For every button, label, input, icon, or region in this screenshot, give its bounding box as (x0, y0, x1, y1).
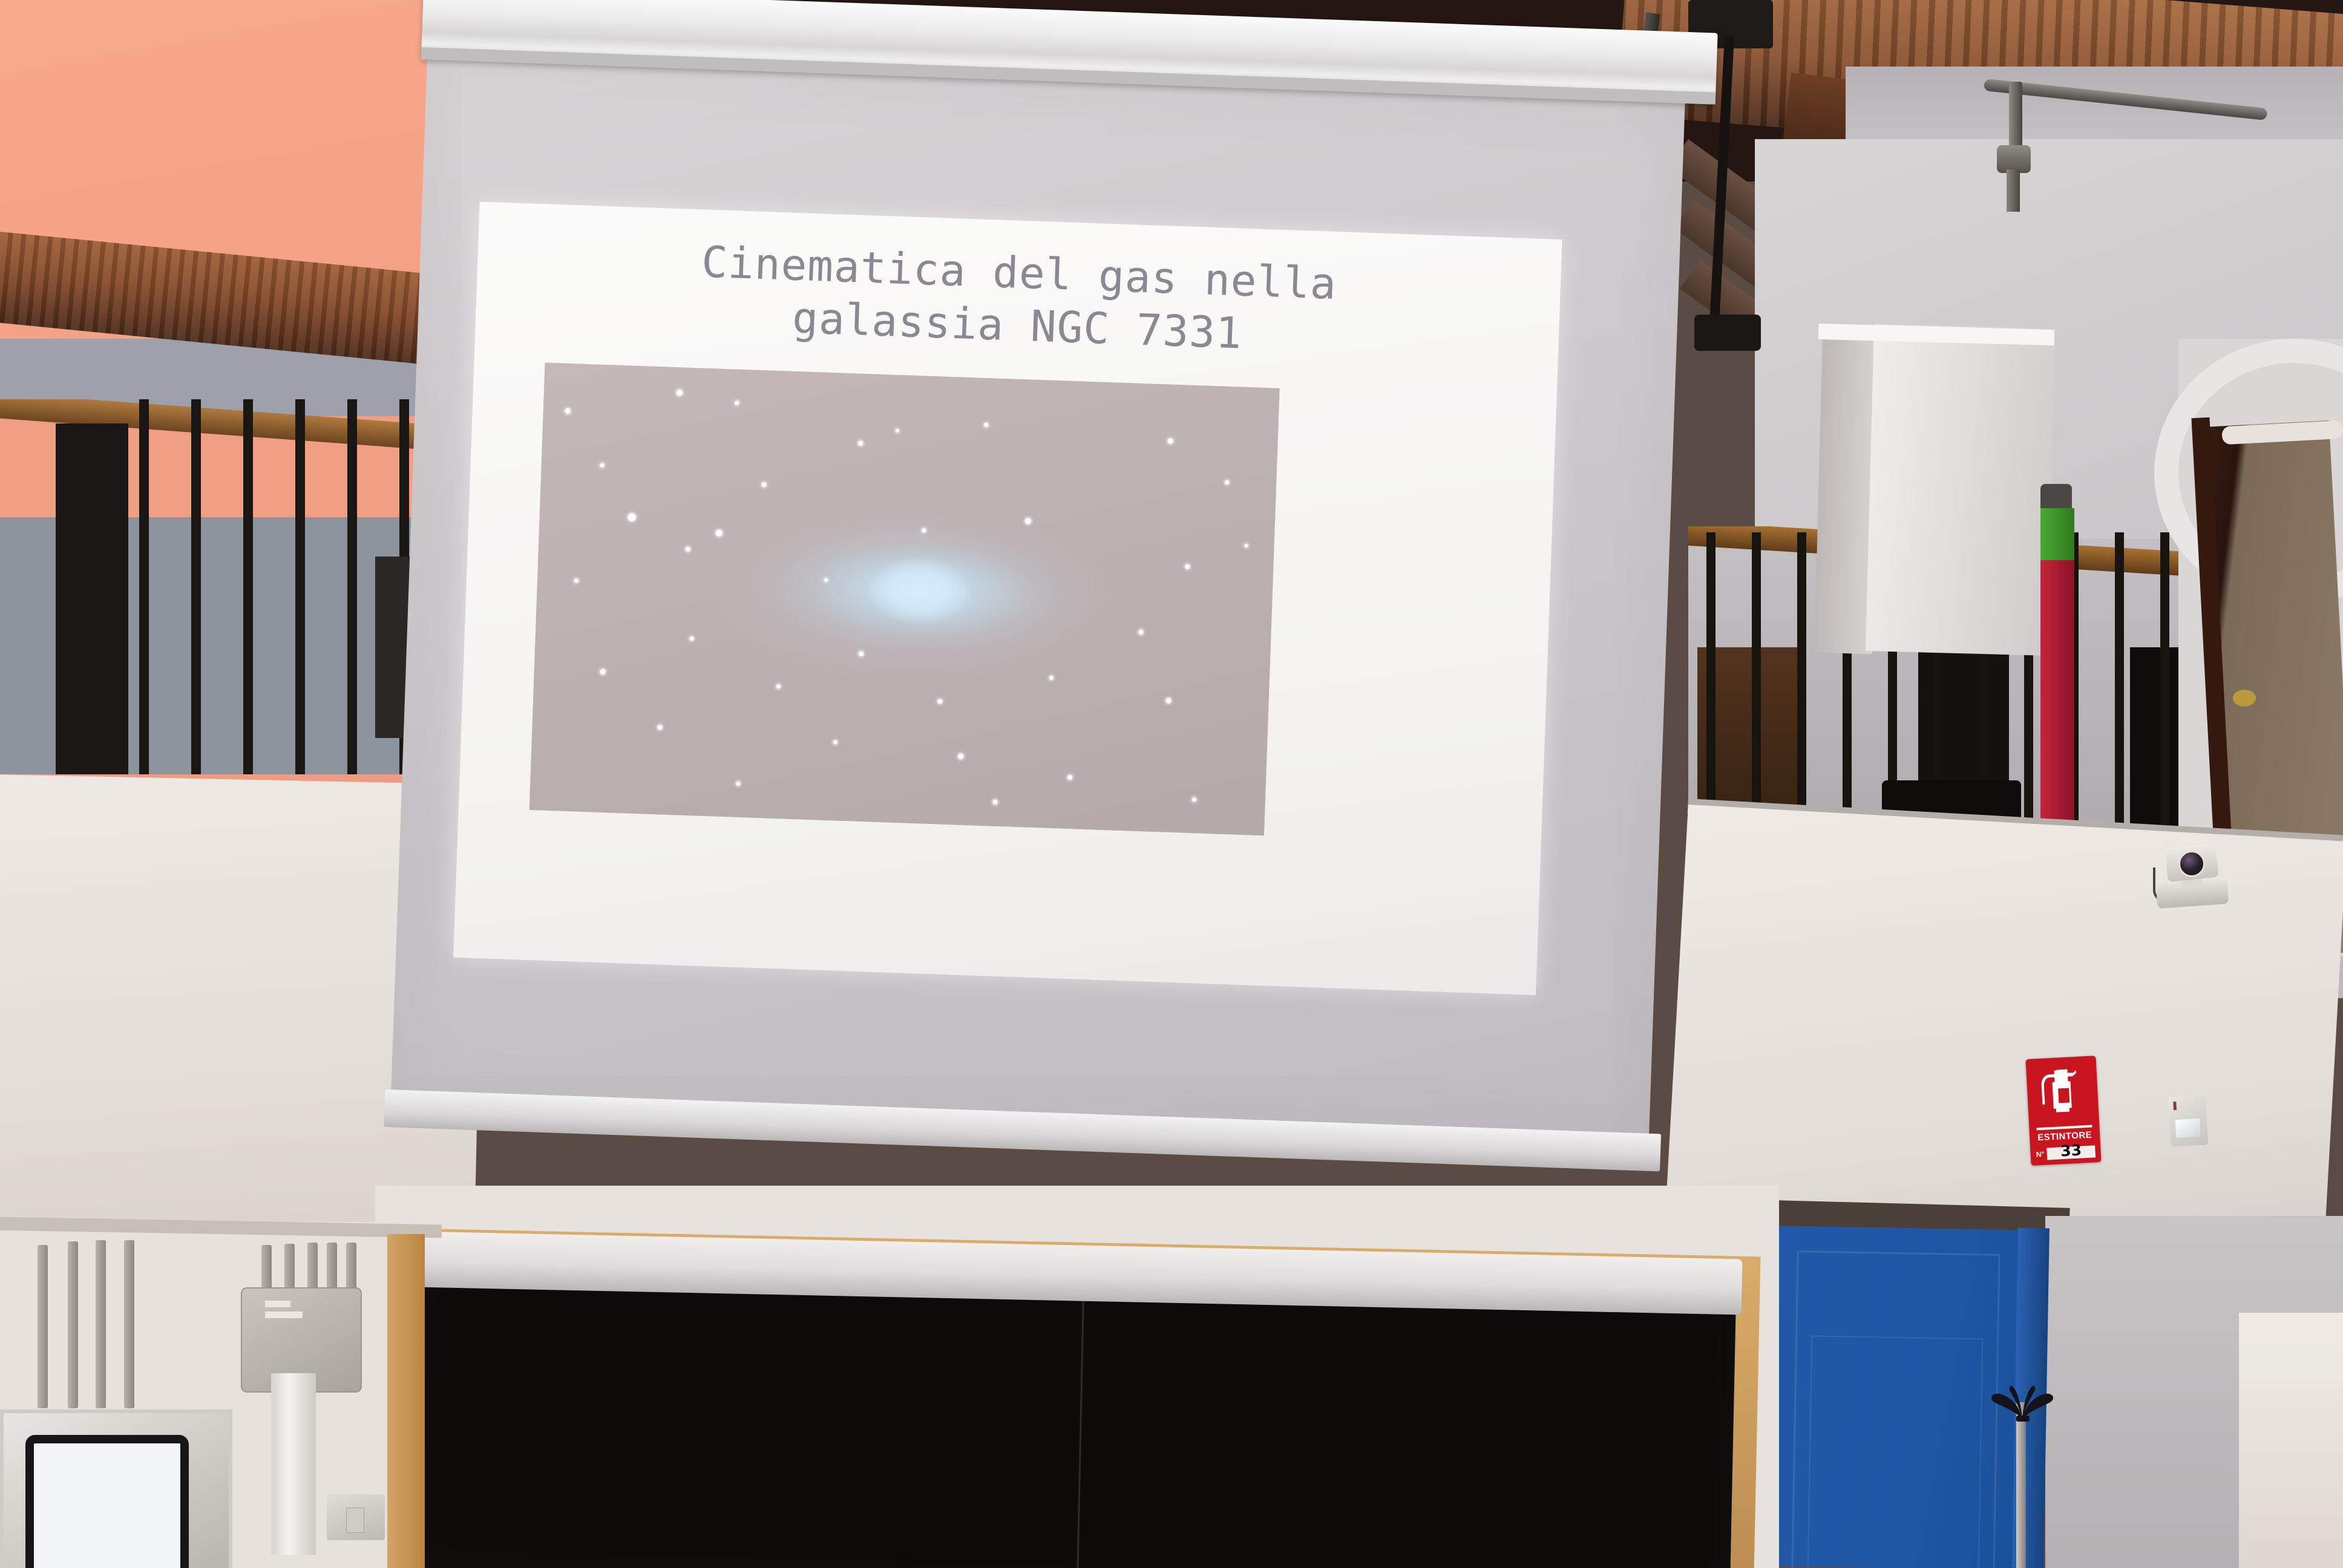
star (1049, 676, 1053, 680)
metal-pipe-downspout (2007, 169, 2020, 212)
white-cabinet (1866, 324, 2056, 656)
electrical-panel-window (25, 1435, 189, 1568)
star (833, 740, 837, 744)
fire-extinguisher-icon (2038, 1063, 2085, 1124)
star (922, 528, 926, 532)
baluster (347, 399, 357, 774)
star (993, 799, 998, 804)
star (824, 578, 828, 582)
switch-indicator (2173, 1102, 2177, 1110)
star (735, 400, 739, 405)
star (686, 547, 690, 552)
star (1025, 518, 1031, 524)
star (574, 578, 578, 583)
electrical-conduit (284, 1244, 295, 1290)
fire-sign-number-box: 33 (2047, 1145, 2096, 1160)
fire-sign-number: 33 (2046, 1140, 2096, 1160)
door-handle-icon[interactable] (2233, 690, 2256, 707)
lecture-hall-photo: ESTINTORE N° 33 (0, 0, 2343, 1568)
galaxy-image (529, 362, 1280, 835)
projection-screen-fabric: Cinematica del gas nella galassia NGC 73… (391, 56, 1685, 1140)
right-wall-opening (2239, 1313, 2343, 1568)
electrical-conduit (38, 1245, 48, 1408)
projected-slide: Cinematica del gas nella galassia NGC 73… (453, 201, 1562, 995)
star (1225, 480, 1229, 485)
projection-screen: Cinematica del gas nella galassia NGC 73… (379, 0, 1742, 1292)
sign-divider (2036, 1125, 2092, 1131)
star (1167, 438, 1173, 443)
star (776, 684, 781, 688)
baluster (2160, 532, 2169, 841)
electrical-conduit (96, 1240, 106, 1408)
star (1067, 775, 1072, 780)
switch-rocker[interactable] (2175, 1119, 2201, 1138)
electrical-conduit (261, 1245, 272, 1290)
star (896, 428, 899, 432)
star (761, 482, 766, 487)
light-switch-right[interactable] (2168, 1095, 2208, 1146)
coat-rack-hooks-icon (1980, 1379, 2065, 1422)
baluster (295, 399, 305, 774)
junction-box-tag (265, 1312, 303, 1318)
gas-cylinder-green-band (2040, 508, 2074, 563)
star (1185, 564, 1190, 569)
star (690, 636, 694, 641)
star (715, 530, 722, 537)
camera-lens-icon (2178, 851, 2205, 877)
star (984, 423, 988, 427)
junction-box-tag (265, 1301, 290, 1307)
fire-sign-number-prefix: N° (2036, 1150, 2044, 1159)
star (1139, 630, 1144, 635)
star (958, 753, 963, 759)
wooden-door-jamb-left (387, 1234, 425, 1568)
star (657, 725, 662, 730)
electrical-conduit (307, 1243, 318, 1290)
star (600, 669, 606, 675)
coat-rack-pole (2016, 1402, 2026, 1568)
electrical-conduit (327, 1243, 337, 1290)
baluster (243, 399, 253, 774)
star (1165, 698, 1171, 704)
baluster (191, 399, 201, 774)
star (1191, 797, 1196, 802)
baluster (139, 399, 149, 774)
right-opening-roller-blind (2239, 1313, 2343, 1333)
baluster (2115, 532, 2124, 841)
electrical-conduit (68, 1241, 78, 1408)
star (600, 463, 605, 467)
electrical-conduit (124, 1240, 134, 1408)
fire-sign-number-row: N° 33 (2036, 1144, 2096, 1161)
gas-cylinder-body (2040, 560, 2074, 820)
star (628, 514, 635, 521)
baluster (1752, 532, 1761, 841)
baluster (1797, 532, 1806, 841)
star (858, 652, 863, 656)
blue-door-panel (1807, 1336, 1984, 1568)
surveillance-camera-icon (2152, 846, 2232, 906)
slide-title: Cinematica del gas nella galassia NGC 73… (475, 228, 1561, 371)
star (565, 408, 571, 414)
star (937, 699, 942, 704)
din-rail (271, 1373, 316, 1555)
electrical-conduit (346, 1243, 356, 1290)
star (736, 782, 740, 786)
railing-post (56, 423, 128, 774)
star (676, 390, 682, 396)
star (858, 441, 863, 446)
star (1245, 544, 1248, 547)
fire-extinguisher-sign: ESTINTORE N° 33 (2025, 1056, 2101, 1166)
light-switch-rocker-left[interactable] (346, 1508, 364, 1533)
